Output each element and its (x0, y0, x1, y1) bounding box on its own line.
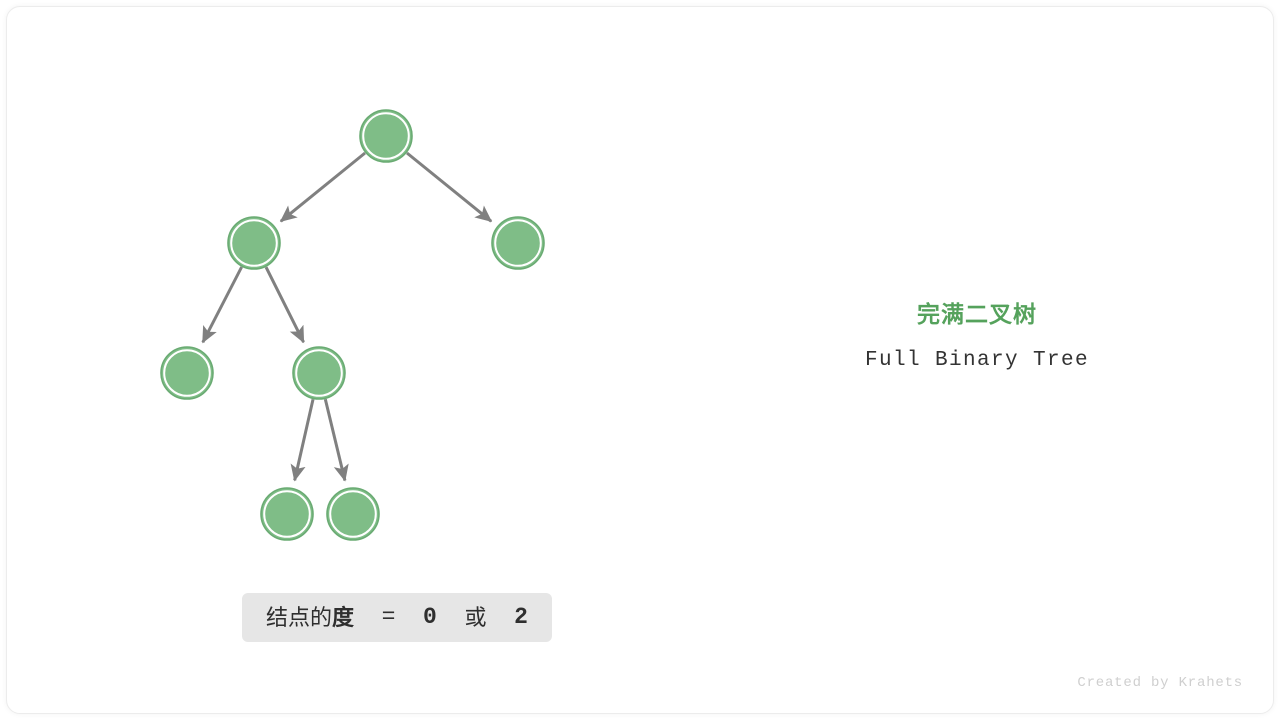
screenshot-canvas: 完满二叉树 Full Binary Tree 结点的度 = 0 或 2 Crea… (0, 0, 1280, 720)
degree-label-segment: 结点的 (266, 607, 332, 629)
tree-edges (203, 153, 491, 480)
tree-node[interactable] (228, 217, 280, 269)
degree-label-segment (486, 606, 514, 629)
tree-node[interactable] (360, 110, 412, 162)
diagram-title-cn: 完满二叉树 (767, 299, 1187, 329)
tree-nodes (161, 110, 544, 540)
degree-condition-label: 结点的度 = 0 或 2 (242, 593, 552, 642)
tree-node[interactable] (327, 488, 379, 540)
tree-edge-arrow (295, 399, 313, 480)
diagram-card: 完满二叉树 Full Binary Tree 结点的度 = 0 或 2 Crea… (6, 6, 1274, 714)
tree-edge-arrow (203, 267, 242, 342)
tree-node-fill (298, 352, 341, 395)
diagram-title-en: Full Binary Tree (767, 347, 1187, 375)
tree-node[interactable] (293, 347, 345, 399)
tree-edge-arrow (325, 399, 345, 480)
degree-label-segment: 0 (423, 606, 437, 629)
tree-edge-arrow (281, 153, 365, 221)
tree-node[interactable] (261, 488, 313, 540)
degree-label-segment: 2 (514, 606, 528, 629)
tree-edge-arrow (407, 153, 491, 221)
degree-label-segment: 或 (464, 607, 486, 629)
tree-node-fill (365, 115, 408, 158)
tree-node-fill (166, 352, 209, 395)
tree-node[interactable] (161, 347, 213, 399)
tree-node-fill (266, 493, 309, 536)
degree-label-segment: 度 (332, 607, 354, 629)
watermark-credit: Created by Krahets (1077, 675, 1243, 691)
tree-node-fill (497, 222, 540, 265)
tree-node[interactable] (492, 217, 544, 269)
tree-edge-arrow (266, 267, 303, 342)
caption-block: 完满二叉树 Full Binary Tree (767, 299, 1187, 375)
tree-node-fill (332, 493, 375, 536)
degree-label-segment: = (354, 606, 423, 629)
degree-label-segment (437, 606, 465, 629)
tree-node-fill (233, 222, 276, 265)
